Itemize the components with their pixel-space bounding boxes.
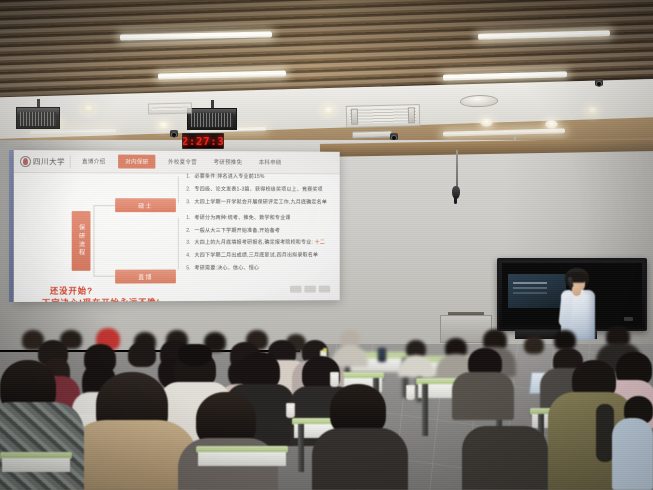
list-item-highlight: 十二 bbox=[315, 240, 325, 246]
list-item-number: 2. bbox=[184, 186, 191, 193]
slide-tab-bar: 直博介绍 对内保研 外校夏令营 考研预推免 本科申硕 bbox=[78, 154, 285, 169]
audience-torso bbox=[462, 426, 548, 490]
security-camera bbox=[390, 133, 398, 140]
slide-branch-label-bottom: 直博 bbox=[138, 272, 153, 281]
hanging-microphone bbox=[452, 186, 460, 199]
slide-bullet-group-2: 1. 考研分为两种:统考、推免、数学和专业课 2. 一般从大三下学期开始准备,开… bbox=[184, 215, 332, 273]
recessed-downlight bbox=[545, 120, 558, 129]
list-item: 1. 考研分为两种:统考、推免、数学和专业课 bbox=[184, 215, 332, 222]
list-item-number: 1. bbox=[184, 174, 191, 181]
recessed-downlight bbox=[82, 104, 95, 113]
projection-screen-edge bbox=[9, 150, 13, 302]
list-item-text: 大四上的九月底填报考研报名,确定报考院校和专业: 十二 bbox=[194, 240, 325, 247]
slide-page-indicator[interactable] bbox=[290, 286, 330, 293]
paper-cup bbox=[406, 386, 415, 400]
audience-hair-bun bbox=[178, 344, 212, 366]
list-item: 4. 大四下学期二月出成绩,三月底复试,四月出拟录取名单 bbox=[184, 253, 332, 261]
recessed-downlight bbox=[322, 106, 335, 115]
list-item: 2. 专四级、论文发表1-3篇、获得校级奖项以上、竞赛奖项 bbox=[184, 186, 332, 194]
list-item: 5. 考研需要:决心、信心、恒心 bbox=[184, 265, 332, 273]
slide-bullet-group-1: 1. 必要条件:排名进入专业前15% 2. 专四级、论文发表1-3篇、获得校级奖… bbox=[184, 174, 332, 207]
ceiling-projector-black bbox=[16, 99, 60, 131]
list-item-number: 3. bbox=[184, 240, 191, 247]
audience-head bbox=[128, 342, 156, 367]
air-conditioner-vent bbox=[346, 104, 421, 128]
university-name: 四川大学 bbox=[33, 156, 65, 167]
university-logo: 四川大学 bbox=[20, 156, 65, 167]
list-item-text: 一般从大三下学期开始准备,开始备考 bbox=[194, 228, 280, 235]
air-conditioner-vent bbox=[148, 103, 192, 115]
audience-torso bbox=[312, 428, 408, 490]
security-camera bbox=[595, 79, 603, 86]
slide-tab-kaoyan-yutuimian[interactable]: 考研预推免 bbox=[210, 156, 247, 168]
recessed-downlight bbox=[157, 121, 170, 130]
desk-row-foreground bbox=[0, 452, 72, 476]
slide-header: 四川大学 直博介绍 对内保研 外校夏令营 考研预推免 本科申硕 bbox=[14, 150, 340, 174]
audience-head bbox=[524, 336, 544, 354]
slide-branch-box-top: 硕士 bbox=[115, 198, 176, 212]
list-item-number: 1. bbox=[184, 215, 191, 222]
ceiling-speaker bbox=[352, 131, 392, 139]
list-item-number: 2. bbox=[184, 228, 191, 235]
list-item-text: 考研分为两种:统考、推免、数学和专业课 bbox=[194, 215, 290, 222]
slide-vertical-label-box: 保研流程 bbox=[72, 211, 91, 271]
university-emblem-icon bbox=[20, 156, 31, 167]
audience-torso bbox=[452, 372, 514, 420]
slide-vertical-label-text: 保研流程 bbox=[77, 224, 86, 257]
ceiling-projector-black bbox=[187, 100, 237, 134]
slide-branch-box-bottom: 直博 bbox=[115, 269, 176, 283]
list-item-number: 4. bbox=[184, 253, 191, 260]
list-item: 3. 大四上的九月底填报考研报名,确定报考院校和专业: 十二 bbox=[184, 240, 332, 247]
slide-bullet-lists: 1. 必要条件:排名进入专业前15% 2. 专四级、论文发表1-3篇、获得校级奖… bbox=[184, 174, 332, 278]
smartphone bbox=[378, 348, 386, 362]
slide-branch-label-top: 硕士 bbox=[138, 201, 153, 210]
audience-torso bbox=[612, 418, 653, 490]
header-divider bbox=[70, 155, 71, 168]
microphone-cable bbox=[456, 150, 458, 188]
list-item-text: 考研需要:决心、信心、恒心 bbox=[194, 265, 259, 272]
projection-screen: 四川大学 直博介绍 对内保研 外校夏令营 考研预推免 本科申硕 保研流程 bbox=[14, 150, 340, 302]
slide-callout-line-2: 下定决心!现在开始永远不晚! bbox=[42, 296, 160, 302]
recessed-downlight bbox=[586, 106, 599, 115]
list-item: 3. 大四上学期一开学就会开展保研评定工作,九月底确定名单 bbox=[184, 199, 332, 207]
tv-brand-logo bbox=[624, 317, 633, 321]
slide-tab-duinei-baoyan[interactable]: 对内保研 bbox=[118, 155, 155, 169]
slide-callout-line-1: 还没开始? bbox=[50, 285, 93, 297]
security-camera bbox=[170, 130, 178, 137]
list-item-number: 3. bbox=[184, 199, 191, 206]
list-item-number: 5. bbox=[184, 265, 191, 272]
slide-body: 保研流程 硕士 直博 1. 必要条件:排名进入专业前15% bbox=[14, 173, 340, 302]
slide-tab-benke-shenshuo[interactable]: 本科申硕 bbox=[255, 156, 286, 168]
list-item-text: 必要条件:排名进入专业前15% bbox=[194, 174, 264, 182]
list-item-text: 大四下学期二月出成绩,三月底复试,四月出拟录取名单 bbox=[194, 253, 318, 261]
desk-row-foreground bbox=[196, 446, 288, 472]
led-clock-time: 12:27:38 bbox=[182, 136, 224, 147]
audience-head bbox=[554, 330, 576, 350]
list-item-text: 大四上学期一开学就会开展保研评定工作,九月底确定名单 bbox=[194, 199, 327, 206]
recessed-downlight bbox=[480, 118, 493, 127]
list-item-text: 专四级、论文发表1-3篇、获得校级奖项以上、竞赛奖项 bbox=[194, 186, 322, 194]
slide-tab-waixiao-xialingying[interactable]: 外校夏令营 bbox=[164, 156, 201, 168]
list-item: 1. 必要条件:排名进入专业前15% bbox=[184, 174, 332, 182]
audience-torso bbox=[0, 402, 84, 490]
presentation-slide: 四川大学 直博介绍 对内保研 外校夏令营 考研预推免 本科申硕 保研流程 bbox=[14, 150, 340, 302]
slide-tab-zhibo[interactable]: 直博介绍 bbox=[78, 155, 109, 167]
lecture-hall-photo: 12:27:38 四川大学 直博介绍 对内保研 外校夏令营 考研预推免 本科申硕 bbox=[0, 0, 653, 490]
list-item: 2. 一般从大三下学期开始准备,开始备考 bbox=[184, 228, 332, 235]
paper-cup bbox=[286, 404, 295, 418]
slide-connector-lines bbox=[93, 205, 94, 277]
led-wall-clock: 12:27:38 bbox=[182, 133, 224, 149]
paper-cup bbox=[330, 373, 339, 387]
